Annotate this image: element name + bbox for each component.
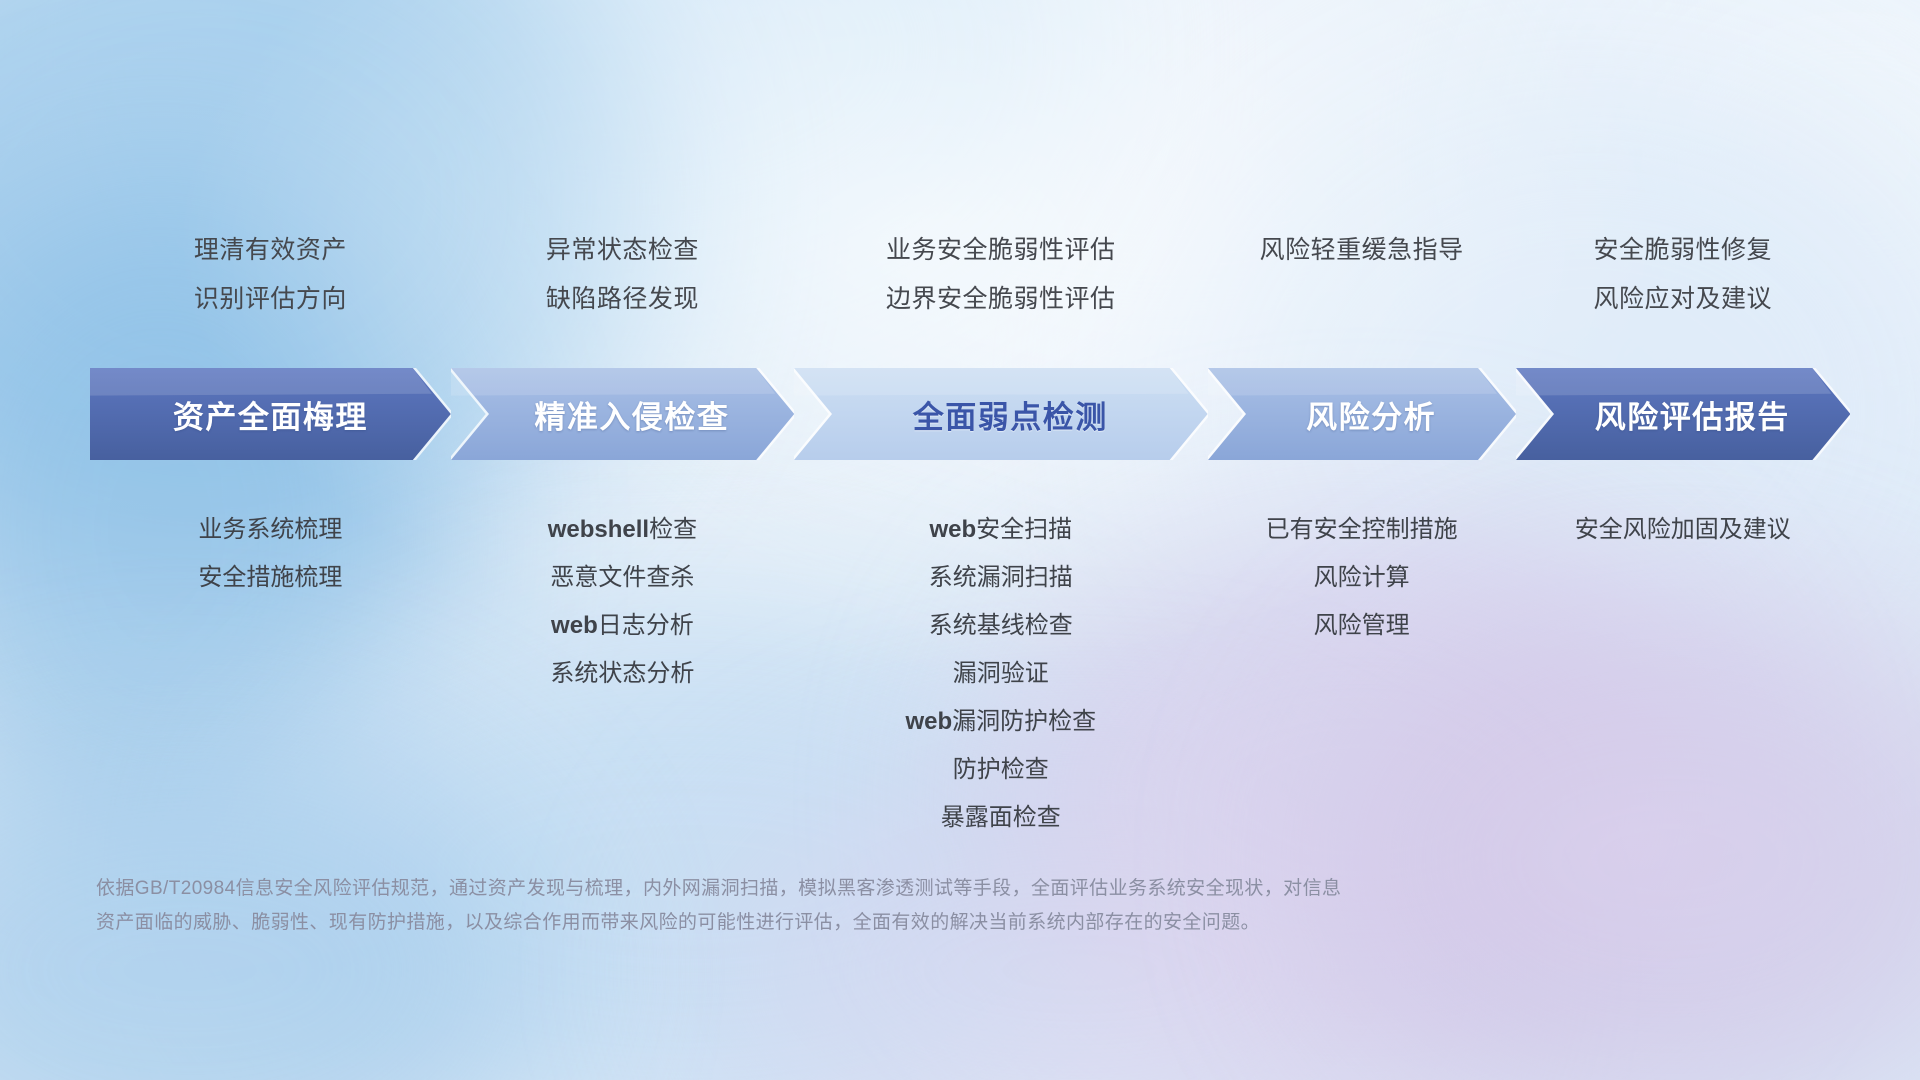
stage-arrow-band: 资产全面梅理精准入侵检查全面弱点检测风险分析风险评估报告	[90, 368, 1850, 460]
process-diagram: 理清有效资产识别评估方向异常状态检查缺陷路径发现业务安全脆弱性评估边界安全脆弱性…	[0, 0, 1920, 1080]
label-column-intrusion-check-bottom: webshell检查恶意文件查杀web日志分析系统状态分析	[451, 506, 794, 698]
label-item: web日志分析	[451, 602, 794, 650]
footer-description: 依据GB/T20984信息安全风险评估规范，通过资产发现与梳理，内外网漏洞扫描，…	[96, 872, 1616, 940]
label-item: 已有安全控制措施	[1208, 506, 1516, 554]
stage-arrow-weakness-detection[interactable]: 全面弱点检测	[794, 368, 1208, 460]
label-column-asset-inventory-bottom: 业务系统梳理安全措施梳理	[90, 506, 451, 602]
stage-arrow-risk-analysis[interactable]: 风险分析	[1208, 368, 1516, 460]
footer-line-2: 资产面临的威胁、脆弱性、现有防护措施，以及综合作用而带来风险的可能性进行评估，全…	[96, 906, 1616, 940]
label-item: 识别评估方向	[90, 275, 451, 324]
stage-title-risk-report: 风险评估报告	[1595, 392, 1790, 437]
label-column-risk-analysis-bottom: 已有安全控制措施风险计算风险管理	[1208, 506, 1516, 650]
label-column-risk-report-top: 安全脆弱性修复风险应对及建议	[1516, 226, 1850, 324]
label-item: 安全措施梳理	[90, 554, 451, 602]
label-column-weakness-detection-top: 业务安全脆弱性评估边界安全脆弱性评估	[794, 226, 1208, 324]
label-item: 恶意文件查杀	[451, 554, 794, 602]
label-item: web安全扫描	[794, 506, 1208, 554]
label-column-asset-inventory-top: 理清有效资产识别评估方向	[90, 226, 451, 324]
label-item: 风险计算	[1208, 554, 1516, 602]
stage-arrow-asset-inventory[interactable]: 资产全面梅理	[90, 368, 451, 460]
bottom-label-columns: 业务系统梳理安全措施梳理webshell检查恶意文件查杀web日志分析系统状态分…	[0, 506, 1920, 866]
label-item: 漏洞验证	[794, 650, 1208, 698]
stage-title-risk-analysis: 风险分析	[1306, 392, 1436, 437]
label-item: 系统基线检查	[794, 602, 1208, 650]
stage-arrow-intrusion-check[interactable]: 精准入侵检查	[451, 368, 794, 460]
label-item: 边界安全脆弱性评估	[794, 275, 1208, 324]
label-column-weakness-detection-bottom: web安全扫描系统漏洞扫描系统基线检查漏洞验证web漏洞防护检查防护检查暴露面检…	[794, 506, 1208, 842]
label-column-risk-analysis-top: 风险轻重缓急指导	[1208, 226, 1516, 275]
stage-arrow-risk-report[interactable]: 风险评估报告	[1516, 368, 1850, 460]
label-item: 风险应对及建议	[1516, 275, 1850, 324]
stage-title-weakness-detection: 全面弱点检测	[913, 392, 1108, 437]
label-item: 安全脆弱性修复	[1516, 226, 1850, 275]
label-item: 安全风险加固及建议	[1516, 506, 1850, 554]
footer-line-1: 依据GB/T20984信息安全风险评估规范，通过资产发现与梳理，内外网漏洞扫描，…	[96, 872, 1616, 906]
label-item: web漏洞防护检查	[794, 698, 1208, 746]
label-item: 暴露面检查	[794, 794, 1208, 842]
label-item: 缺陷路径发现	[451, 275, 794, 324]
label-item: 业务系统梳理	[90, 506, 451, 554]
label-item: 风险管理	[1208, 602, 1516, 650]
label-item: 防护检查	[794, 746, 1208, 794]
label-item: 系统漏洞扫描	[794, 554, 1208, 602]
label-item: webshell检查	[451, 506, 794, 554]
top-label-columns: 理清有效资产识别评估方向异常状态检查缺陷路径发现业务安全脆弱性评估边界安全脆弱性…	[0, 226, 1920, 346]
label-item: 异常状态检查	[451, 226, 794, 275]
label-column-intrusion-check-top: 异常状态检查缺陷路径发现	[451, 226, 794, 324]
label-item: 理清有效资产	[90, 226, 451, 275]
stage-title-intrusion-check: 精准入侵检查	[534, 392, 729, 437]
label-item: 业务安全脆弱性评估	[794, 226, 1208, 275]
label-item: 风险轻重缓急指导	[1208, 226, 1516, 275]
label-item: 系统状态分析	[451, 650, 794, 698]
stage-title-asset-inventory: 资产全面梅理	[173, 392, 368, 437]
label-column-risk-report-bottom: 安全风险加固及建议	[1516, 506, 1850, 554]
